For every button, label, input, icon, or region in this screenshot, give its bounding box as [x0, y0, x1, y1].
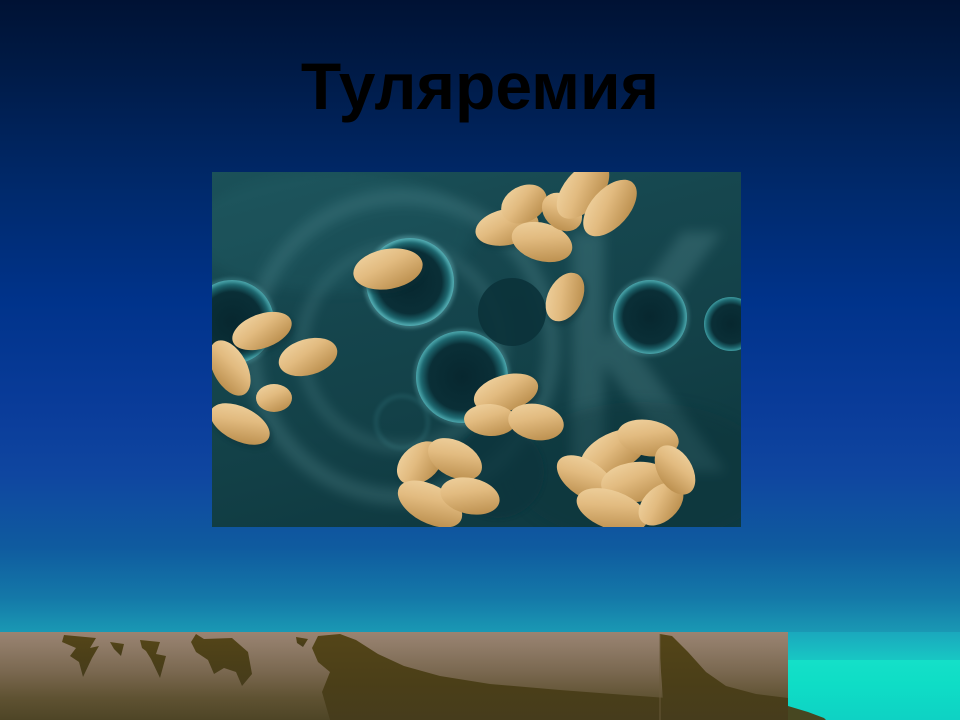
microscopy-image[interactable] — [212, 172, 741, 527]
cyan-accent-block — [788, 660, 960, 720]
cyan-accent-upper — [788, 632, 960, 662]
earth-band-shapes — [0, 632, 788, 720]
earth-band — [0, 632, 788, 720]
microscopy-image-content — [212, 172, 741, 527]
presentation-slide: Туляремия — [0, 0, 960, 720]
slide-title: Туляремия — [0, 52, 960, 121]
